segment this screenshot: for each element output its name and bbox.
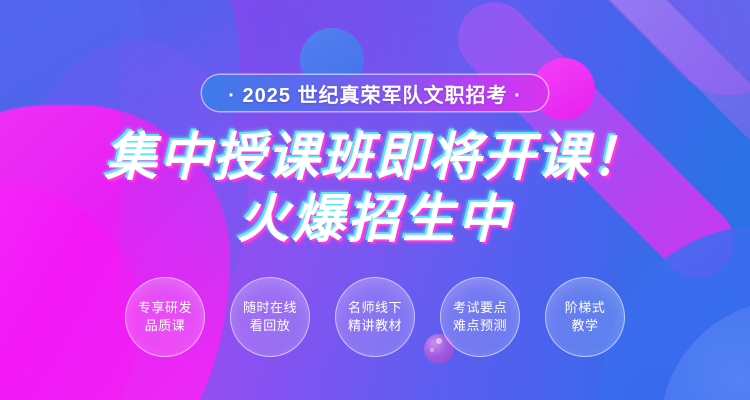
feature-badge-5[interactable]: 阶梯式 教学 (545, 277, 625, 357)
banner-eyebrow-pill: · 2025 世纪真荣军队文职招考 · (202, 75, 547, 111)
promo-banner: · 2025 世纪真荣军队文职招考 · 集中授课班即将开课！ 火爆招生中 专享研… (0, 0, 750, 400)
feature-badge-2[interactable]: 随时在线 看回放 (230, 277, 310, 357)
feature-badge-5-line1: 阶梯式 (565, 299, 606, 317)
feature-badge-4-line1: 考试要点 (453, 299, 507, 317)
feature-badge-list: 专享研发 品质课 随时在线 看回放 名师线下 精讲教材 考试要点 难点预测 阶梯… (0, 277, 750, 357)
banner-headline-line1: 集中授课班即将开课！ (105, 129, 645, 187)
banner-eyebrow-text: · 2025 世纪真荣军队文职招考 · (228, 79, 521, 108)
feature-badge-3[interactable]: 名师线下 精讲教材 (335, 277, 415, 357)
feature-badge-1-line1: 专享研发 (138, 299, 192, 317)
banner-headline-line2: 火爆招生中 (237, 191, 512, 249)
feature-badge-5-line2: 教学 (571, 317, 598, 335)
banner-content: · 2025 世纪真荣军队文职招考 · 集中授课班即将开课！ 火爆招生中 专享研… (0, 0, 750, 400)
feature-badge-1[interactable]: 专享研发 品质课 (125, 277, 205, 357)
feature-badge-2-line2: 看回放 (250, 317, 291, 335)
feature-badge-4[interactable]: 考试要点 难点预测 (440, 277, 520, 357)
feature-badge-1-line2: 品质课 (145, 317, 186, 335)
feature-badge-3-line1: 名师线下 (348, 299, 402, 317)
feature-badge-2-line1: 随时在线 (243, 299, 297, 317)
feature-badge-3-line2: 精讲教材 (348, 317, 402, 335)
feature-badge-4-line2: 难点预测 (453, 317, 507, 335)
